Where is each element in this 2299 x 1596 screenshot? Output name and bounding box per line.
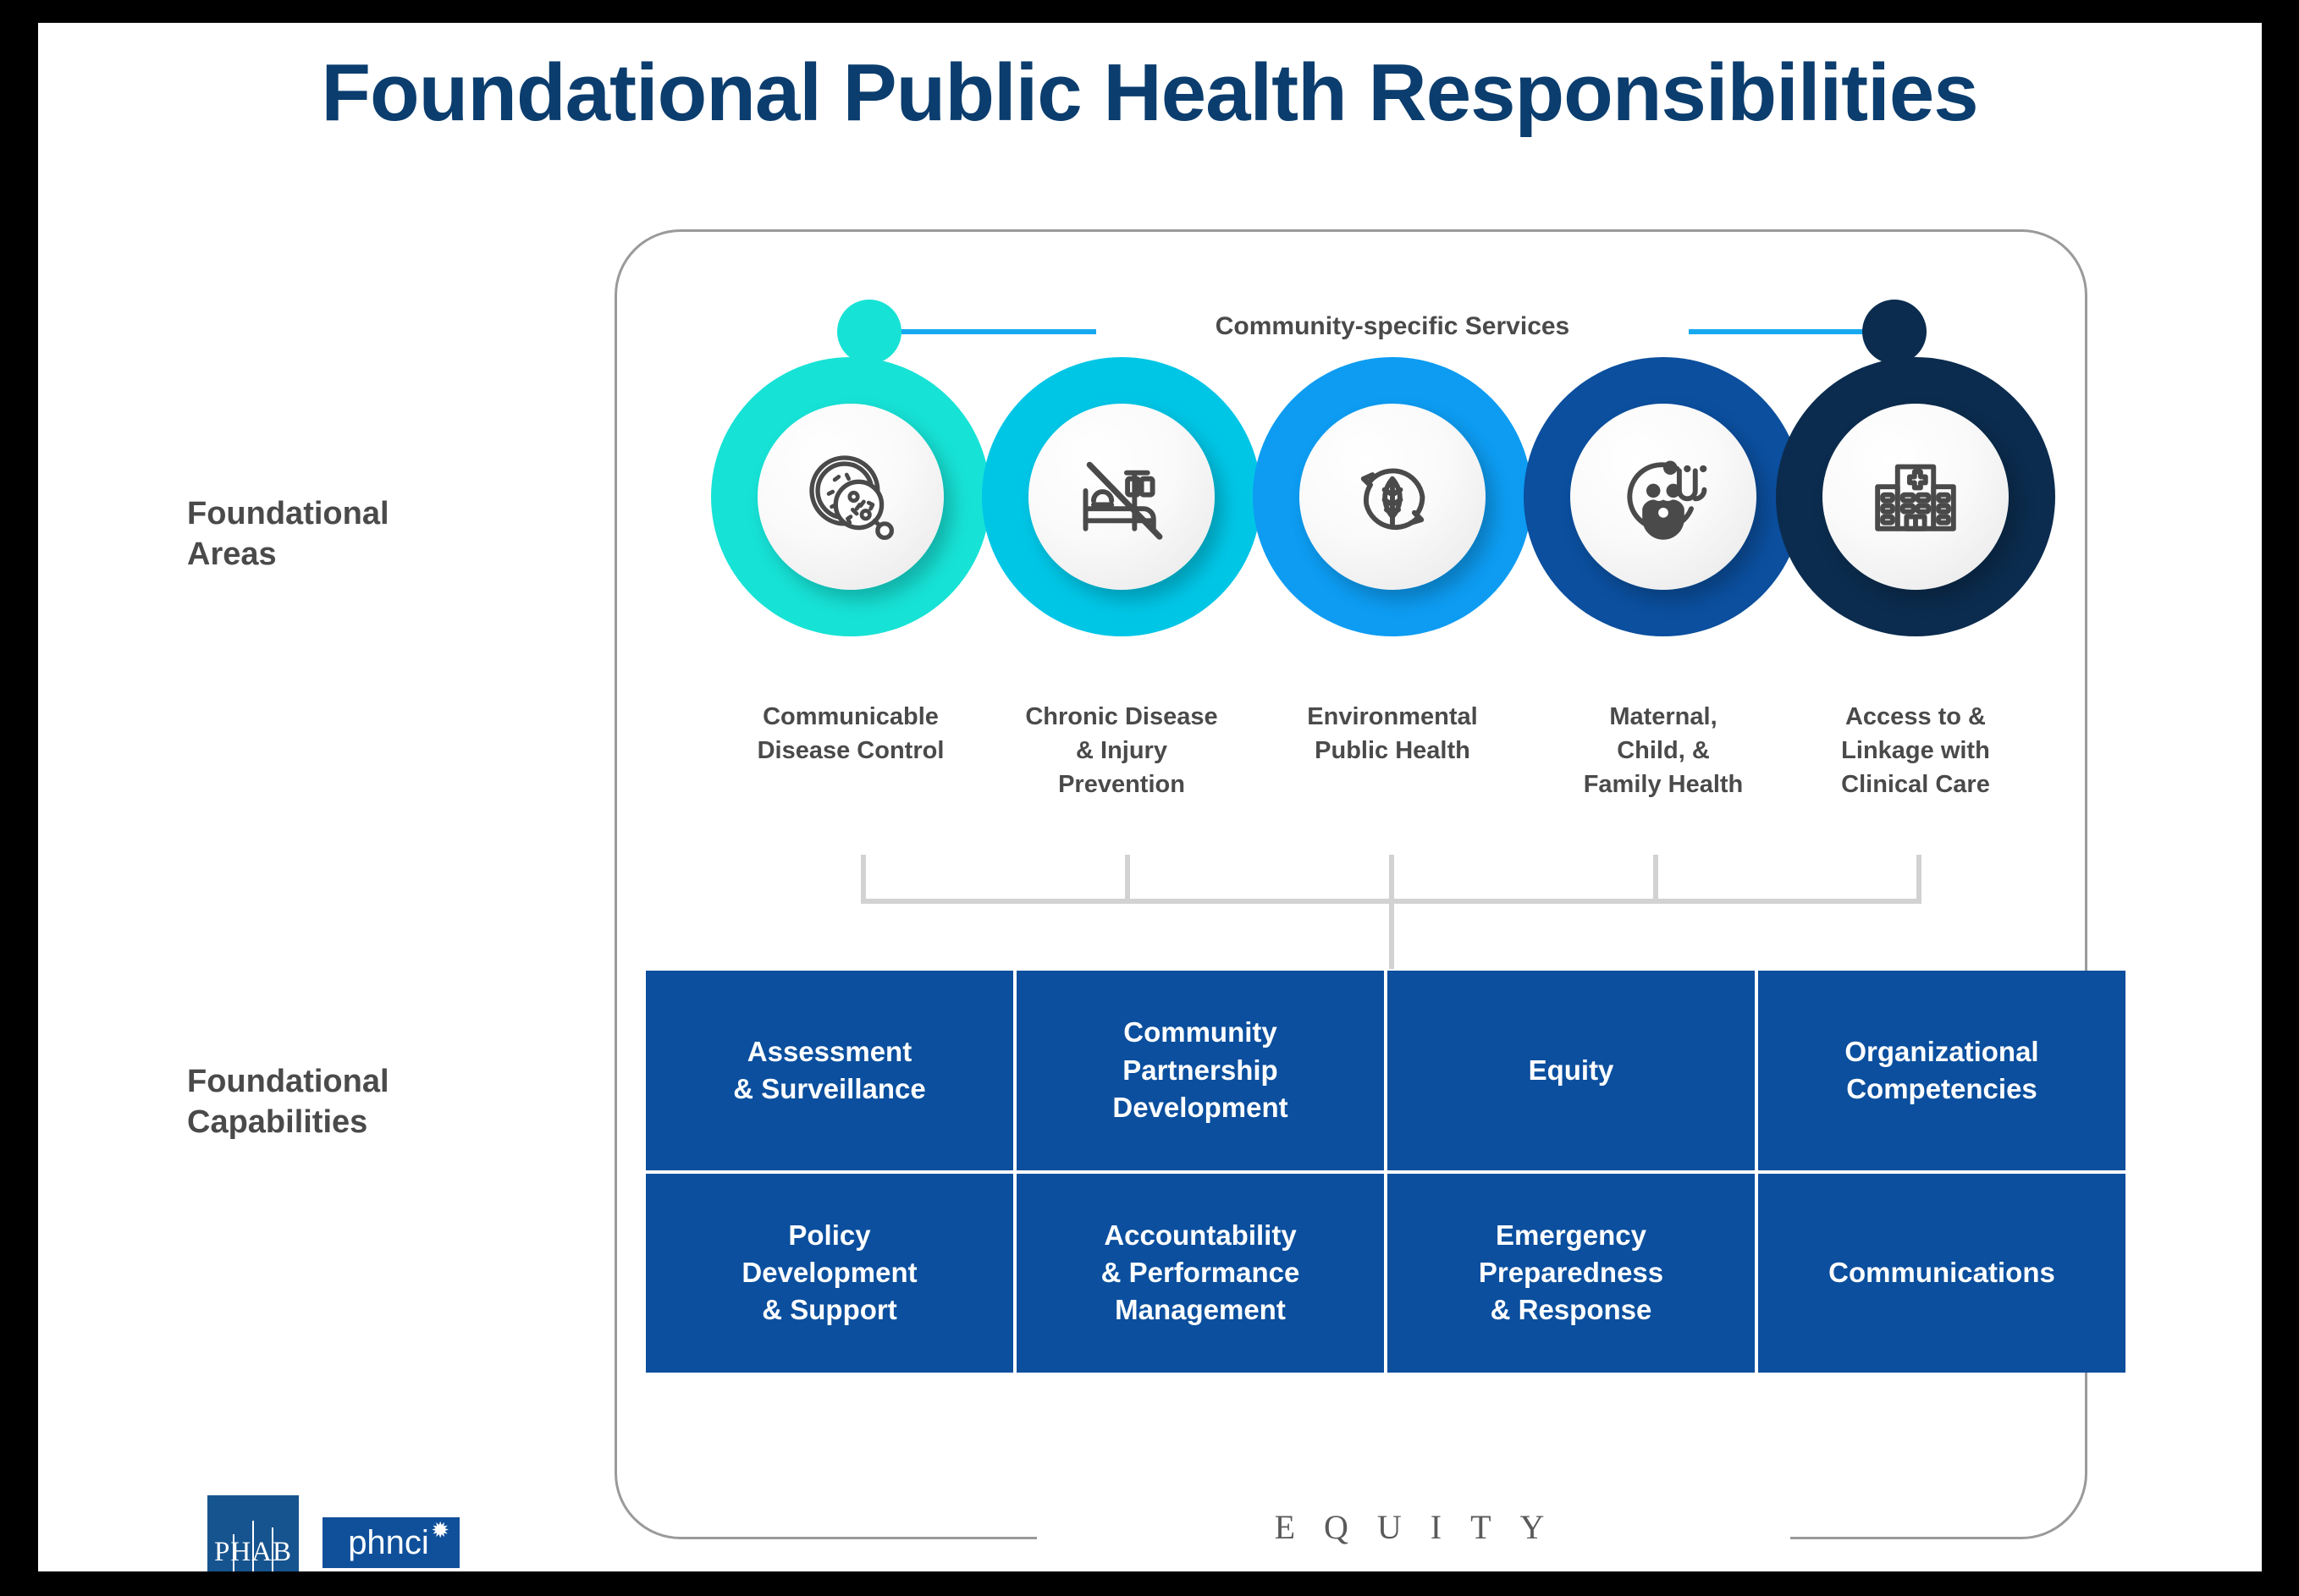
capability-cell-equity[interactable]: Equity [1387,971,1755,1170]
area-label-line3: Family Health [1536,768,1790,801]
area-label-line1: Chronic Disease [995,700,1249,734]
outer-frame: Foundational Public Health Responsibilit… [0,0,2299,1596]
bracket-tick-1 [861,855,866,902]
area-label-line1: Communicable [724,700,978,734]
bracket-center-stem [1389,899,1394,969]
page-title: Foundational Public Health Responsibilit… [49,47,2250,140]
area-label-line3: Clinical Care [1789,768,2043,801]
capability-line2: Development [742,1254,917,1291]
capability-line1: Accountability [1101,1217,1300,1254]
foundational-capabilities-grid: Assessment & Surveillance Community Part… [646,971,2125,1373]
area-label-line2: Child, & [1536,734,1790,768]
bracket-tick-2 [1125,855,1130,902]
foundational-areas-label: Foundational Areas [187,494,389,575]
phab-logo-mark: PHAB [207,1495,299,1571]
capability-line1: Community [1112,1014,1287,1051]
icon-bubble-communicable-disease-control [758,404,944,590]
capability-line3: & Response [1479,1291,1663,1329]
capability-line2: Competencies [1844,1070,2038,1108]
area-label-line2: Public Health [1265,734,1519,768]
capability-cell-accountability-performance-management[interactable]: Accountability & Performance Management [1017,1174,1384,1373]
community-services-label: Community-specific Services [1096,311,1689,343]
phnci-logo-text: phnci [348,1526,434,1560]
bracket-tick-3 [1389,855,1394,902]
area-label-line2: Disease Control [724,734,978,768]
hospital-building-icon [1866,447,1965,547]
capability-cell-policy-development-support[interactable]: Policy Development & Support [646,1174,1013,1373]
family-stethoscope-icon [1613,447,1713,547]
slide-canvas: Foundational Public Health Responsibilit… [38,23,2262,1571]
capability-line2: Partnership [1112,1052,1287,1089]
icon-bubble-maternal-child-family-health [1570,404,1756,590]
germ-magnifier-icon [801,447,901,547]
capability-line2: & Performance [1101,1254,1300,1291]
leaf-recycle-icon [1342,447,1442,547]
foundational-areas-label-line2: Areas [187,535,389,575]
foundational-areas-label-line1: Foundational [187,494,389,535]
area-label-line2: Linkage with [1789,734,2043,768]
phab-logo: PHAB Advancing public health performance [207,1495,299,1571]
area-label-line1: Environmental [1265,700,1519,734]
area-label-line1: Access to & [1789,700,2043,734]
capability-cell-assessment-surveillance[interactable]: Assessment & Surveillance [646,971,1013,1170]
capability-cell-emergency-preparedness-response[interactable]: Emergency Preparedness & Response [1387,1174,1755,1373]
capability-line1: Policy [742,1217,917,1254]
capability-line2: Preparedness [1479,1254,1663,1291]
icon-bubble-chronic-disease-injury-prevention [1028,404,1215,590]
capability-line1: Communications [1828,1254,2055,1291]
area-label-environmental-public-health: Environmental Public Health [1265,700,1519,768]
capability-line2: & Surveillance [733,1070,925,1108]
container-border-gap-right [1731,1530,1790,1540]
area-label-maternal-child-family-health: Maternal, Child, & Family Health [1536,700,1790,801]
capability-line3: Development [1112,1089,1287,1126]
logo-group: PHAB Advancing public health performance… [207,1495,460,1571]
community-services-dot-right [1862,300,1927,364]
capability-line1: Assessment [733,1033,925,1070]
phab-logo-text: PHAB [214,1538,292,1571]
icon-bubble-environmental-public-health [1299,404,1486,590]
area-label-line2: & Injury [995,734,1249,768]
capability-line1: Emergency [1479,1217,1663,1254]
area-label-communicable-disease-control: Communicable Disease Control [724,700,978,768]
capability-cell-organizational-competencies[interactable]: Organizational Competencies [1758,971,2125,1170]
foundational-capabilities-label-line1: Foundational [187,1062,389,1103]
area-label-access-linkage-clinical-care: Access to & Linkage with Clinical Care [1789,700,2043,801]
capability-line3: & Support [742,1291,917,1329]
equity-footer-word: EQUITY [1088,1507,1731,1547]
hospital-bed-slashed-icon [1072,447,1172,547]
capability-cell-community-partnership-development[interactable]: Community Partnership Development [1017,971,1384,1170]
foundational-capabilities-label: Foundational Capabilities [187,1062,389,1142]
bracket-tick-5 [1916,855,1921,902]
foundational-capabilities-label-line2: Capabilities [187,1103,389,1143]
area-label-line1: Maternal, [1536,700,1790,734]
community-services-dot-left [837,300,901,364]
icon-bubble-access-linkage-clinical-care [1822,404,2009,590]
area-label-line3: Prevention [995,768,1249,801]
capability-line3: Management [1101,1291,1300,1329]
capability-line1: Organizational [1844,1033,2038,1070]
bracket-tick-4 [1653,855,1658,902]
capability-line1: Equity [1529,1052,1614,1089]
phnci-logo: phnci ✹ [323,1517,460,1568]
capability-cell-communications[interactable]: Communications [1758,1174,2125,1373]
area-label-chronic-disease-injury-prevention: Chronic Disease & Injury Prevention [995,700,1249,801]
phnci-star-icon: ✹ [431,1519,449,1541]
